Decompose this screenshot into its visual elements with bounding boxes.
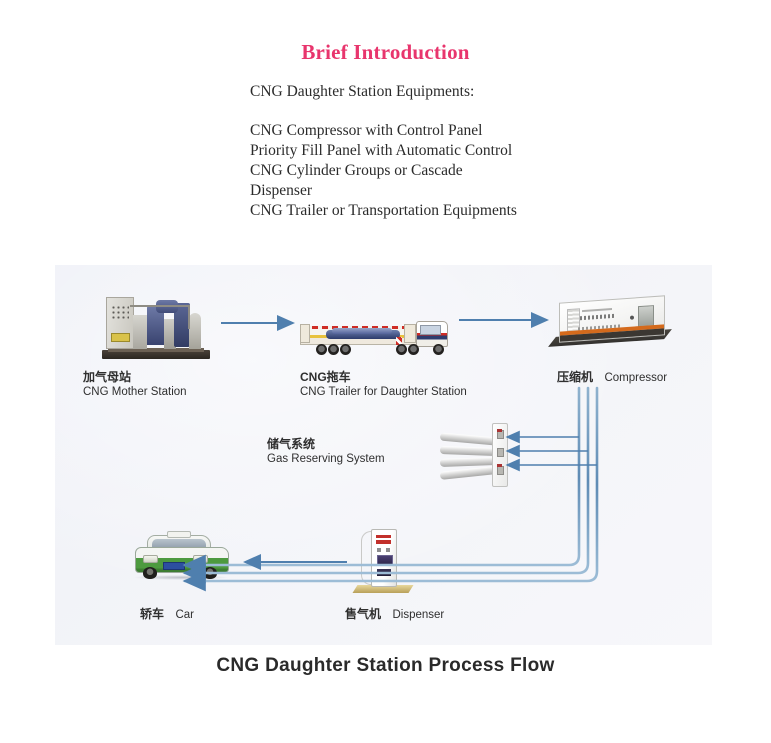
intro-text-block: CNG Daughter Station Equipments: CNG Com… [250, 82, 517, 221]
pipe-compressor-to-dispenser-2 [185, 388, 588, 573]
intro-item-2: Priority Fill Panel with Automatic Contr… [250, 141, 517, 161]
intro-item-4: Dispenser [250, 181, 517, 201]
pipe-compressor-to-dispenser-1 [185, 388, 579, 565]
intro-item-5: CNG Trailer or Transportation Equipments [250, 201, 517, 221]
diagram-caption: CNG Daughter Station Process Flow [0, 655, 771, 677]
intro-lead: CNG Daughter Station Equipments: [250, 82, 517, 102]
page-title: Brief Introduction [0, 40, 771, 65]
intro-item-3: CNG Cylinder Groups or Cascade [250, 161, 517, 181]
process-flow-diagram: 加气母站 CNG Mother Station CNG拖车 CNG Traile… [55, 265, 712, 645]
flow-connectors [55, 265, 712, 645]
intro-item-1: CNG Compressor with Control Panel [250, 121, 517, 141]
pipe-compressor-to-dispenser-3 [185, 388, 597, 581]
